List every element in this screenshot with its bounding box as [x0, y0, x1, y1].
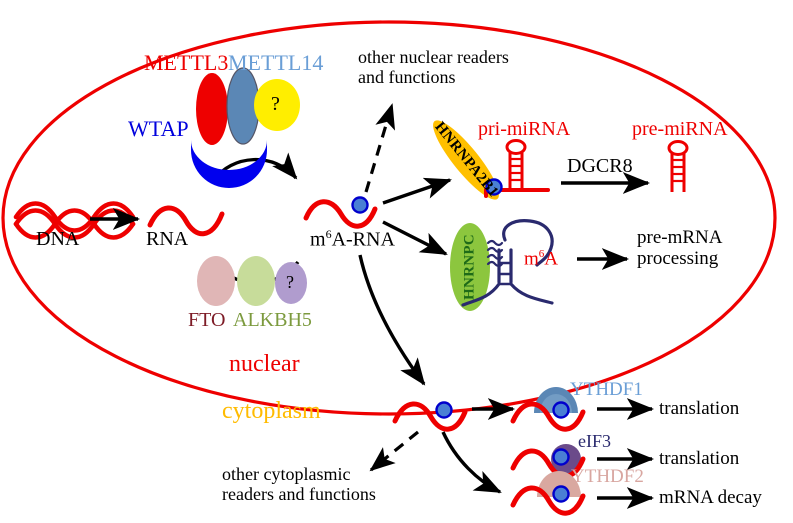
label-dna: DNA	[36, 228, 79, 250]
other-nuclear-readers-line2: and functions	[358, 67, 509, 87]
arrow-to-ythdf2	[443, 432, 500, 492]
pre-mirna-hairpin-icon	[669, 142, 687, 193]
label-eif3: eIF3	[578, 431, 611, 451]
fto-shape	[197, 256, 235, 306]
arrow-to-other-cytoplasmic-readers	[371, 432, 418, 470]
label-dgcr8: DGCR8	[567, 155, 633, 177]
label-hnrnpc: HNRNPC	[462, 234, 479, 300]
m6a-rna-m: m	[310, 229, 326, 251]
alkbh5-shape	[237, 256, 275, 306]
eif3-m6a-dot	[554, 450, 569, 465]
label-pre-mirna: pre-miRNA	[632, 118, 728, 140]
label-wtap: WTAP	[128, 117, 189, 142]
cytoplasm-mrna-m6a-dot	[437, 403, 452, 418]
label-mettl14: METTL14	[228, 51, 323, 76]
label-mettl3: METTL3	[144, 51, 228, 76]
cytoplasm-mrna-strand	[395, 404, 465, 429]
label-other-nuclear-readers: other nuclear readers and functions	[358, 47, 509, 87]
m6a-rna-tail: A-RNA	[332, 229, 395, 251]
other-cytoplasmic-readers-line1: other cytoplasmic	[222, 464, 376, 484]
pre-mrna-processing-line2: processing	[637, 248, 722, 269]
ythdf1-m6a-dot	[554, 403, 569, 418]
label-ythdf1: YTHDF1	[570, 379, 643, 400]
ythdf2-m6a-dot	[554, 487, 569, 502]
mettl3-shape	[196, 73, 228, 145]
other-cytoplasmic-readers-line2: readers and functions	[222, 484, 376, 504]
figure-canvas: METTL3 METTL14 WTAP ? FTO ALKBH5 ? DNA R…	[0, 0, 793, 523]
label-translation-2: translation	[659, 448, 739, 469]
label-mrna-decay: mRNA decay	[659, 487, 762, 508]
label-nuclear: nuclear	[229, 351, 300, 378]
m6a-mark-m: m	[524, 248, 539, 269]
pre-mrna-processing-line1: pre-mRNA	[637, 227, 722, 248]
arrow-to-other-nuclear-readers	[366, 105, 392, 192]
label-translation-1: translation	[659, 398, 739, 419]
arrow-nucleus-to-cytoplasm	[360, 255, 424, 384]
m6a-mark-tail: A	[544, 248, 558, 269]
label-m6a-rna: m6A-RNA	[310, 228, 395, 251]
label-pri-mirna: pri-miRNA	[478, 118, 570, 140]
label-ythdf2: YTHDF2	[571, 466, 644, 487]
label-alkbh5: ALKBH5	[233, 309, 312, 331]
label-m6a-mark: m6A	[524, 248, 558, 270]
other-nuclear-readers-line1: other nuclear readers	[358, 47, 509, 67]
wtap-shape	[191, 140, 267, 188]
label-fto: FTO	[188, 309, 225, 331]
label-pre-mrna-processing: pre-mRNA processing	[637, 227, 722, 270]
label-writer-unknown: ?	[271, 93, 280, 115]
label-rna: RNA	[146, 228, 188, 250]
m6a-mark-dot	[353, 198, 368, 213]
label-other-cytoplasmic-readers: other cytoplasmic readers and functions	[222, 464, 376, 504]
label-eraser-unknown: ?	[286, 272, 294, 292]
label-cytoplasm: cytoplasm	[222, 398, 321, 425]
arrow-to-hnrnpa2b1	[383, 180, 450, 203]
